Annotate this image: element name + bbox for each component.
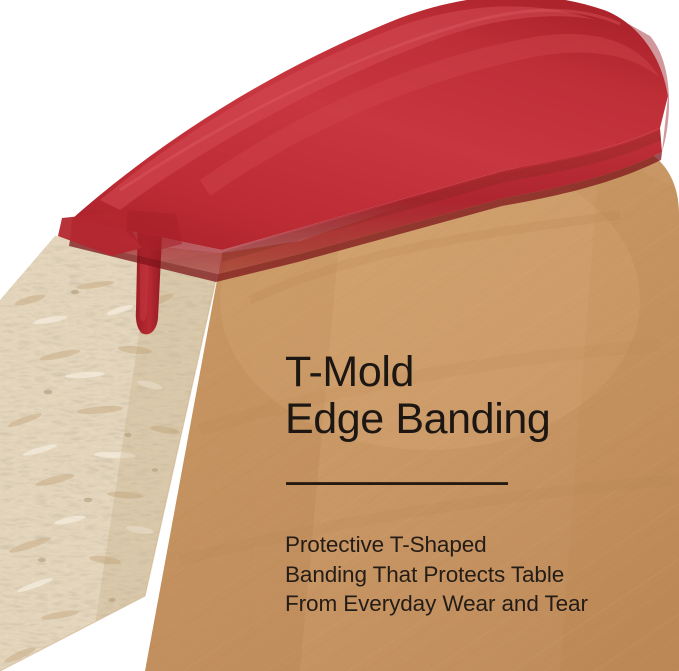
product-scene-svg — [0, 0, 679, 671]
product-image-canvas: T-Mold Edge Banding Protective T-Shaped … — [0, 0, 679, 671]
product-photograph — [0, 0, 679, 671]
